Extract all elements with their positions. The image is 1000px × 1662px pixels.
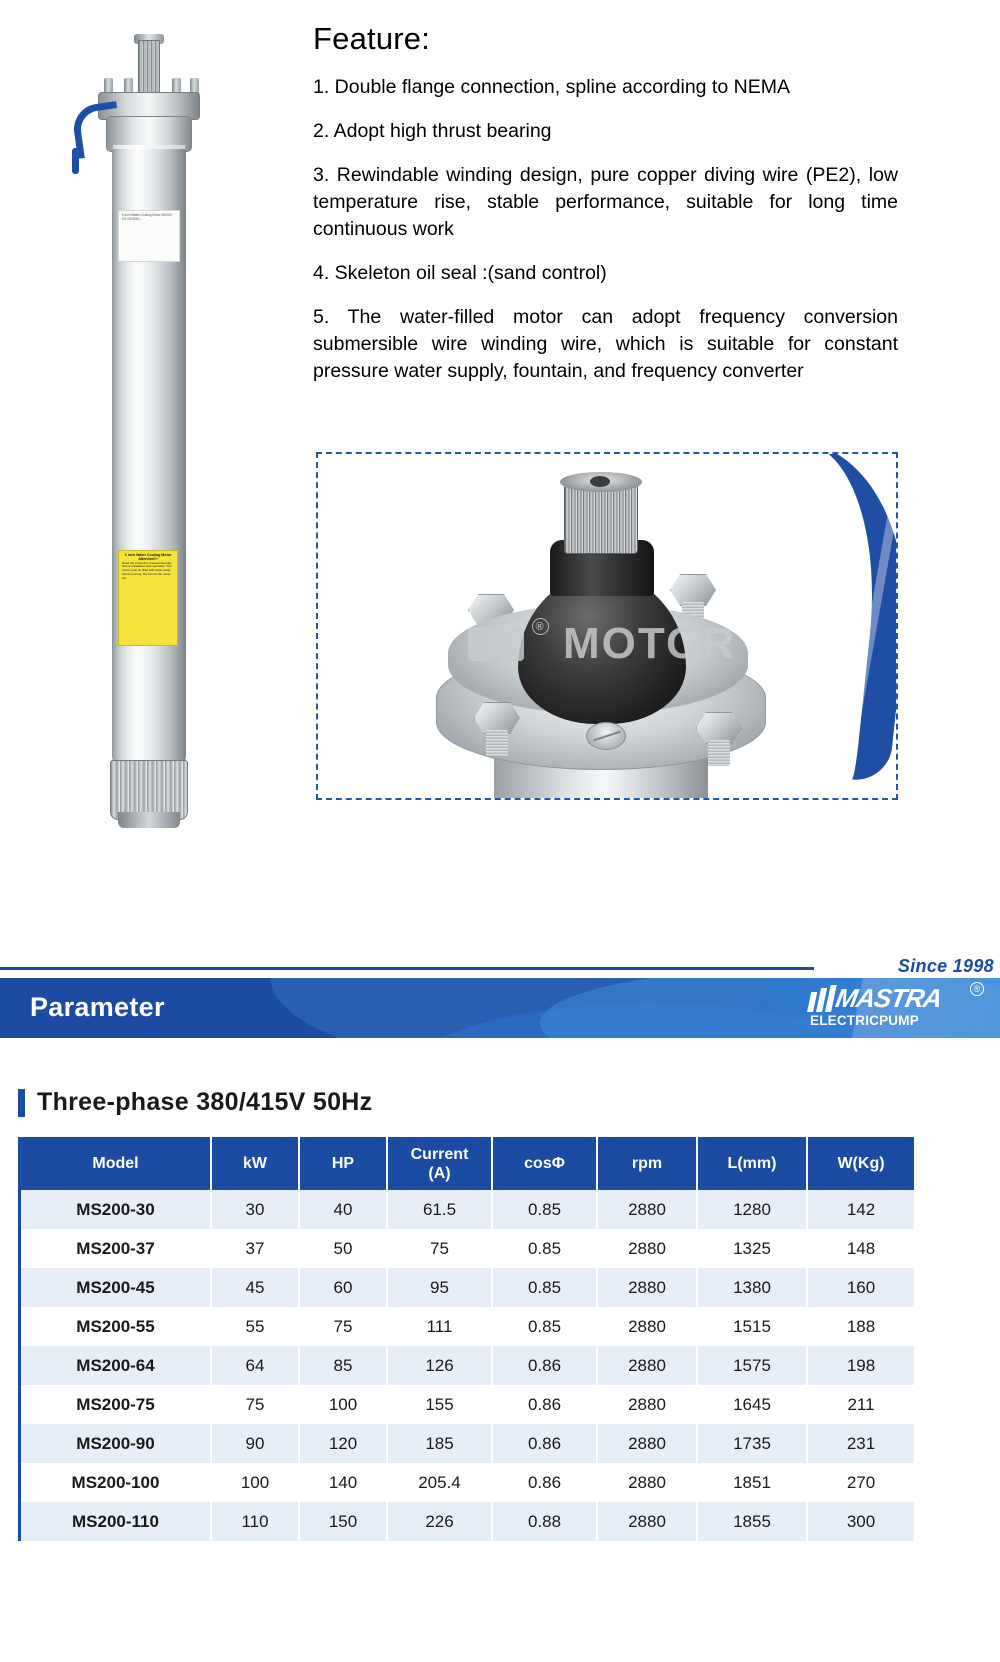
- cell-weight: 270: [807, 1463, 914, 1502]
- banner-title: Parameter: [30, 992, 165, 1023]
- registered-trademark-icon: ®: [970, 982, 984, 996]
- since-divider-row: Since 1998: [0, 956, 1000, 978]
- cell-hp: 50: [299, 1229, 387, 1268]
- cell-rpm: 2880: [597, 1268, 697, 1307]
- cell-current: 226: [387, 1502, 492, 1541]
- detail-photo-stage: ® MOTOR: [318, 454, 896, 798]
- cell-current: 155: [387, 1385, 492, 1424]
- warning-label-body: Read the instruction manual carefully be…: [122, 561, 171, 580]
- cell-hp: 85: [299, 1346, 387, 1385]
- cell-current: 75: [387, 1229, 492, 1268]
- motor-lower-bracket: [110, 760, 188, 820]
- cell-weight: 300: [807, 1502, 914, 1541]
- cell-cos: 0.85: [492, 1190, 597, 1229]
- cell-kw: 110: [211, 1502, 299, 1541]
- feature-item: 5. The water-filled motor can adopt freq…: [313, 304, 898, 385]
- cell-current: 95: [387, 1268, 492, 1307]
- cell-kw: 45: [211, 1268, 299, 1307]
- table-row: MS200-75751001550.8628801645211: [21, 1385, 914, 1424]
- motor-nameplate-label: 6 inch Water Cooling Motor MS200 CE ISO9…: [118, 210, 180, 262]
- cell-rpm: 2880: [597, 1307, 697, 1346]
- brand-tagline: ELECTRICPUMP: [810, 1013, 919, 1028]
- product-overview-section: 6 inch Water Cooling Motor MS200 CE ISO9…: [0, 0, 1000, 890]
- table-row: MS200-454560950.8528801380160: [21, 1268, 914, 1307]
- divider-line: [0, 967, 814, 970]
- cell-hp: 150: [299, 1502, 387, 1541]
- cell-weight: 198: [807, 1346, 914, 1385]
- section-heading: Three-phase 380/415V 50Hz: [18, 1088, 372, 1117]
- cell-kw: 90: [211, 1424, 299, 1463]
- cell-cos: 0.86: [492, 1385, 597, 1424]
- detail-hex-bolt: [696, 712, 742, 768]
- cell-hp: 100: [299, 1385, 387, 1424]
- detail-spline-shaft: [564, 484, 638, 554]
- column-header-hp: HP: [299, 1137, 387, 1190]
- cell-current: 126: [387, 1346, 492, 1385]
- table-row: MS200-90901201850.8628801735231: [21, 1424, 914, 1463]
- cell-model: MS200-110: [21, 1502, 211, 1541]
- feature-list-block: Feature: 1. Double flange connection, sp…: [313, 22, 898, 385]
- motor-spline-shaft: [138, 40, 160, 96]
- column-header-length: L(mm): [697, 1137, 807, 1190]
- cell-kw: 75: [211, 1385, 299, 1424]
- current-header-line2: (A): [428, 1165, 450, 1182]
- cell-kw: 64: [211, 1346, 299, 1385]
- cell-current: 185: [387, 1424, 492, 1463]
- table-header: Model kW HP Current (A) cosΦ rpm L(mm) W…: [21, 1137, 914, 1190]
- cell-cos: 0.85: [492, 1268, 597, 1307]
- cell-cos: 0.85: [492, 1307, 597, 1346]
- cell-model: MS200-75: [21, 1385, 211, 1424]
- cell-rpm: 2880: [597, 1385, 697, 1424]
- cell-current: 61.5: [387, 1190, 492, 1229]
- cell-cos: 0.86: [492, 1463, 597, 1502]
- cell-cos: 0.86: [492, 1346, 597, 1385]
- cell-hp: 140: [299, 1463, 387, 1502]
- heading-label: Three-phase 380/415V 50Hz: [37, 1088, 372, 1117]
- cell-weight: 211: [807, 1385, 914, 1424]
- cell-length: 1380: [697, 1268, 807, 1307]
- cell-length: 1515: [697, 1307, 807, 1346]
- column-header-rpm: rpm: [597, 1137, 697, 1190]
- cell-length: 1575: [697, 1346, 807, 1385]
- detail-power-cable: [769, 452, 898, 783]
- cell-weight: 148: [807, 1229, 914, 1268]
- cell-model: MS200-37: [21, 1229, 211, 1268]
- table-body: MS200-30304061.50.8528801280142MS200-373…: [21, 1190, 914, 1541]
- cell-model: MS200-64: [21, 1346, 211, 1385]
- column-header-kw: kW: [211, 1137, 299, 1190]
- cell-model: MS200-90: [21, 1424, 211, 1463]
- since-label: Since 1998: [898, 956, 994, 977]
- detail-oil-seal-hub: [518, 574, 686, 724]
- motor-base: [118, 812, 180, 828]
- detail-hex-bolt: [474, 702, 520, 758]
- cell-length: 1280: [697, 1190, 807, 1229]
- cell-length: 1735: [697, 1424, 807, 1463]
- cell-length: 1325: [697, 1229, 807, 1268]
- cell-kw: 100: [211, 1463, 299, 1502]
- spec-table-wrapper: Model kW HP Current (A) cosΦ rpm L(mm) W…: [18, 1137, 911, 1541]
- detail-photo-inset: ® MOTOR: [316, 452, 898, 800]
- cell-rpm: 2880: [597, 1502, 697, 1541]
- cell-hp: 75: [299, 1307, 387, 1346]
- cell-weight: 142: [807, 1190, 914, 1229]
- cell-cos: 0.85: [492, 1229, 597, 1268]
- detail-spline-bore: [590, 476, 610, 487]
- cell-rpm: 2880: [597, 1190, 697, 1229]
- parameter-banner: Parameter MASTRA ® ELECTRICPUMP: [0, 978, 1000, 1038]
- cell-model: MS200-45: [21, 1268, 211, 1307]
- cell-current: 111: [387, 1307, 492, 1346]
- spec-table: Model kW HP Current (A) cosΦ rpm L(mm) W…: [21, 1137, 914, 1541]
- cell-kw: 55: [211, 1307, 299, 1346]
- heading-accent-bar: [18, 1089, 25, 1117]
- current-header-line1: Current: [411, 1146, 469, 1163]
- cell-model: MS200-30: [21, 1190, 211, 1229]
- cell-hp: 40: [299, 1190, 387, 1229]
- cell-rpm: 2880: [597, 1463, 697, 1502]
- cell-rpm: 2880: [597, 1346, 697, 1385]
- power-cable-lead: [72, 148, 79, 174]
- column-header-model: Model: [21, 1137, 211, 1190]
- cell-kw: 30: [211, 1190, 299, 1229]
- column-header-cos: cosΦ: [492, 1137, 597, 1190]
- feature-title: Feature:: [313, 22, 898, 56]
- cell-kw: 37: [211, 1229, 299, 1268]
- product-photo: 6 inch Water Cooling Motor MS200 CE ISO9…: [60, 20, 290, 820]
- cell-model: MS200-55: [21, 1307, 211, 1346]
- table-row: MS200-30304061.50.8528801280142: [21, 1190, 914, 1229]
- brand-name: MASTRA: [833, 983, 944, 1014]
- cell-cos: 0.86: [492, 1424, 597, 1463]
- feature-item: 2. Adopt high thrust bearing: [313, 118, 898, 145]
- column-header-weight: W(Kg): [807, 1137, 914, 1190]
- cell-length: 1855: [697, 1502, 807, 1541]
- cell-hp: 60: [299, 1268, 387, 1307]
- column-header-current: Current (A): [387, 1137, 492, 1190]
- cell-current: 205.4: [387, 1463, 492, 1502]
- table-row: MS200-1101101502260.8828801855300: [21, 1502, 914, 1541]
- cell-weight: 231: [807, 1424, 914, 1463]
- cell-rpm: 2880: [597, 1229, 697, 1268]
- table-row: MS200-373750750.8528801325148: [21, 1229, 914, 1268]
- motor-warning-label: 6 inch Water Cooling Motor Attention!!! …: [118, 550, 178, 646]
- table-row: MS200-6464851260.8628801575198: [21, 1346, 914, 1385]
- brand-logo: MASTRA ® ELECTRICPUMP: [810, 984, 986, 1034]
- table-header-row: Model kW HP Current (A) cosΦ rpm L(mm) W…: [21, 1137, 914, 1190]
- cell-hp: 120: [299, 1424, 387, 1463]
- cell-rpm: 2880: [597, 1424, 697, 1463]
- cell-model: MS200-100: [21, 1463, 211, 1502]
- cell-weight: 188: [807, 1307, 914, 1346]
- cell-length: 1645: [697, 1385, 807, 1424]
- table-row: MS200-5555751110.8528801515188: [21, 1307, 914, 1346]
- feature-item: 1. Double flange connection, spline acco…: [313, 74, 898, 101]
- table-row: MS200-100100140205.40.8628801851270: [21, 1463, 914, 1502]
- detail-screw-plug: [586, 722, 626, 750]
- cell-cos: 0.88: [492, 1502, 597, 1541]
- cell-weight: 160: [807, 1268, 914, 1307]
- feature-item: 4. Skeleton oil seal :(sand control): [313, 260, 898, 287]
- feature-item: 3. Rewindable winding design, pure coppe…: [313, 162, 898, 243]
- cell-length: 1851: [697, 1463, 807, 1502]
